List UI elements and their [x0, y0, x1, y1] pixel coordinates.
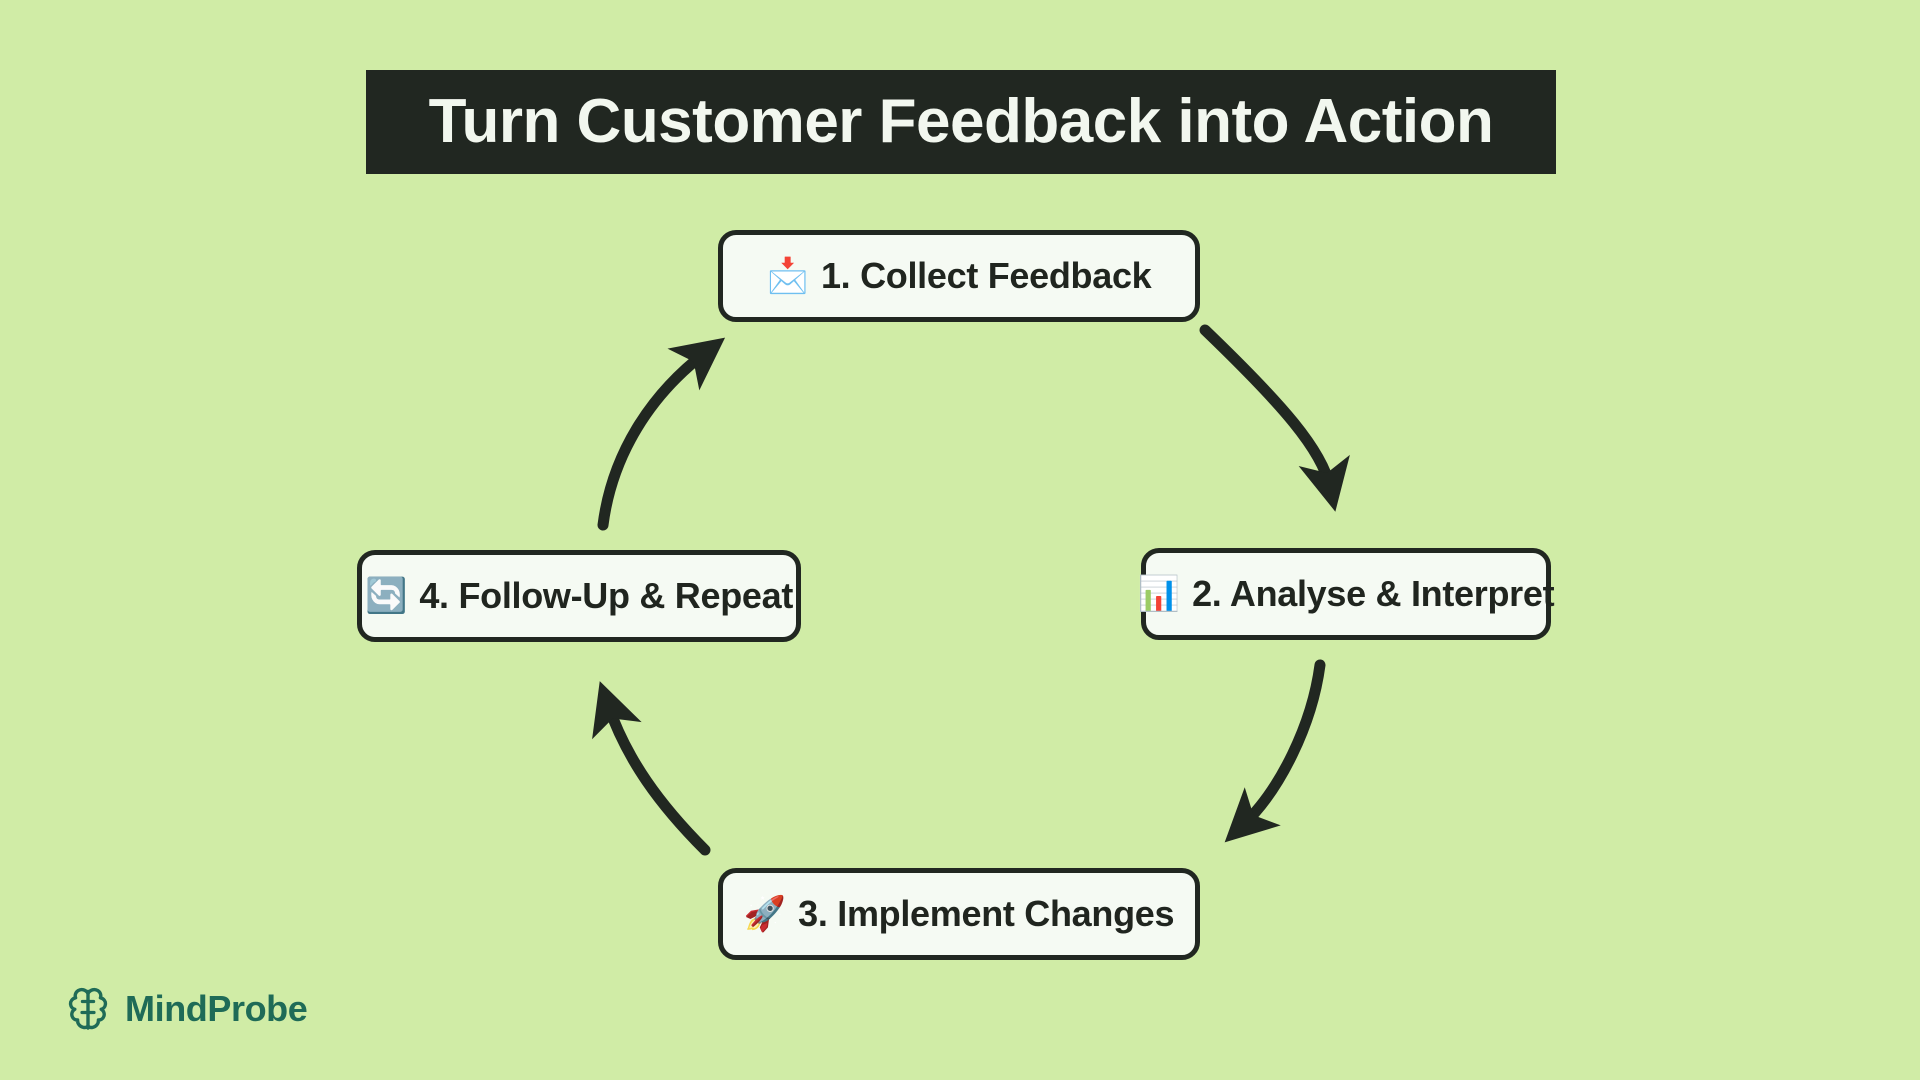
cycle-step-label: 3. Implement Changes — [798, 896, 1174, 932]
rocket-icon: 🚀 — [744, 897, 786, 931]
title-banner: Turn Customer Feedback into Action — [366, 70, 1556, 174]
brain-icon — [65, 985, 111, 1033]
page-title: Turn Customer Feedback into Action — [429, 91, 1494, 153]
cycle-step-label: 1. Collect Feedback — [821, 258, 1151, 294]
bar-chart-icon: 📊 — [1138, 577, 1180, 611]
cycle-step-implement-changes[interactable]: 🚀 3. Implement Changes — [718, 868, 1200, 960]
cycle-step-follow-up-repeat[interactable]: 🔄 4. Follow-Up & Repeat — [357, 550, 801, 642]
cycle-step-label: 4. Follow-Up & Repeat — [419, 578, 793, 614]
cycle-step-collect-feedback[interactable]: 📩 1. Collect Feedback — [718, 230, 1200, 322]
arrow-step3-to-step4 — [608, 705, 705, 850]
arrow-step2-to-step3 — [1243, 665, 1320, 825]
cycle-step-label: 2. Analyse & Interpret — [1192, 576, 1554, 612]
envelope-with-arrow-icon: 📩 — [767, 259, 809, 293]
arrow-step4-to-step1 — [603, 353, 705, 525]
cycle-step-analyse-interpret[interactable]: 📊 2. Analyse & Interpret — [1141, 548, 1551, 640]
arrow-step1-to-step2 — [1205, 330, 1330, 487]
brand-name: MindProbe — [125, 991, 307, 1027]
brand-logo: MindProbe — [65, 985, 307, 1033]
repeat-arrows-icon: 🔄 — [365, 579, 407, 613]
